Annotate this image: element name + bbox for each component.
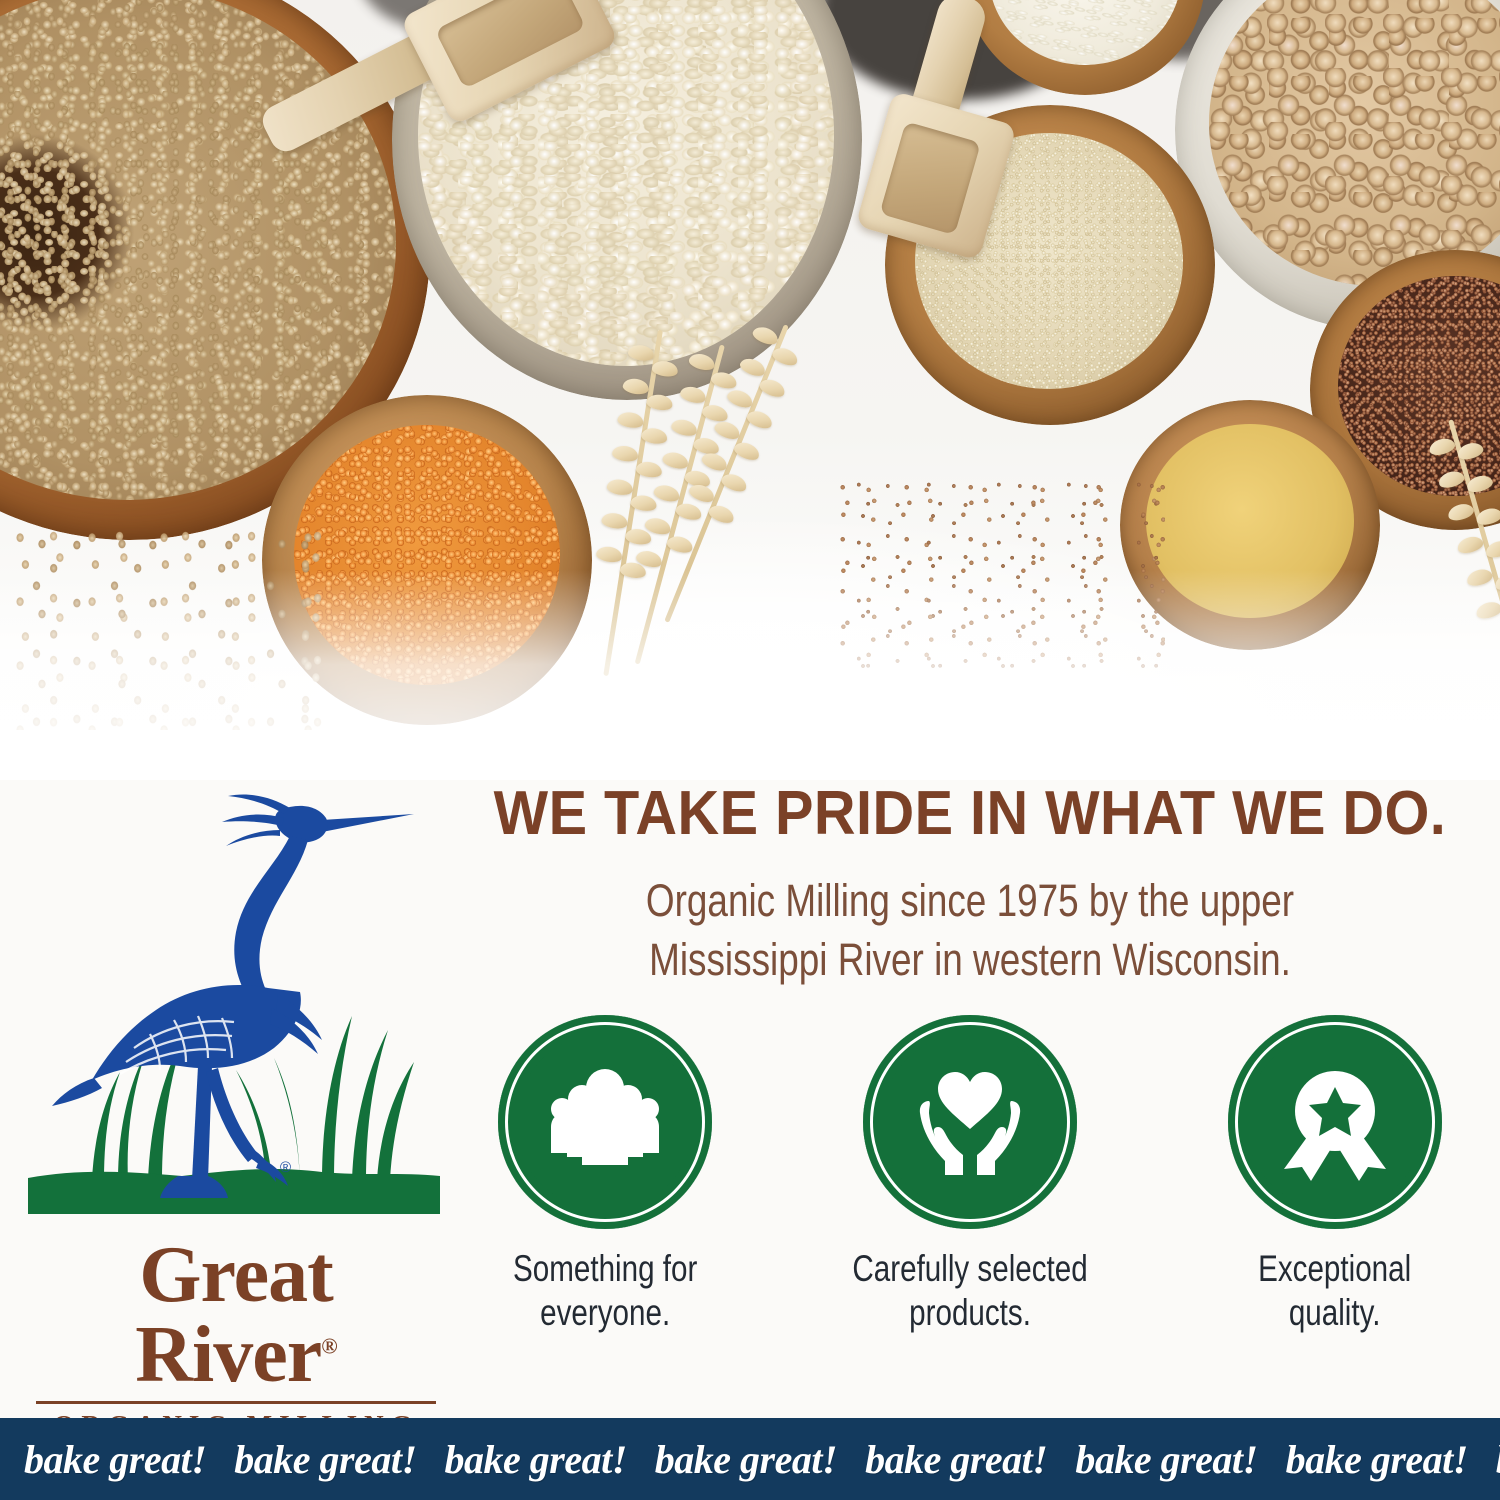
people-group-icon bbox=[540, 1057, 670, 1187]
content-area: ® Great River® ORGANIC MILLING WE TAKE P… bbox=[0, 700, 1500, 1420]
banner-phrase: bake great! bbox=[1286, 1436, 1468, 1483]
award-ribbon-star-icon bbox=[1270, 1057, 1400, 1187]
bake-great-banner: bake great! bake great! bake great! bake… bbox=[0, 1418, 1500, 1500]
svg-text:®: ® bbox=[280, 1159, 291, 1176]
wheat-stalk-icon bbox=[1421, 412, 1500, 717]
headline-block: WE TAKE PRIDE IN WHAT WE DO. Organic Mil… bbox=[455, 778, 1485, 990]
marketing-image: ® Great River® ORGANIC MILLING WE TAKE P… bbox=[0, 0, 1500, 1500]
heart-in-hands-icon bbox=[905, 1057, 1035, 1187]
wordmark-rule-top bbox=[36, 1401, 436, 1404]
registered-mark: ® bbox=[321, 1333, 336, 1358]
brand-name: Great River® bbox=[36, 1235, 436, 1395]
badge-label: Carefully selected products. bbox=[852, 1247, 1087, 1334]
banner-phrase: bake great! bbox=[24, 1436, 206, 1483]
grain-photo bbox=[0, 0, 1500, 780]
scattered-quinoa-seeds bbox=[835, 480, 1165, 670]
value-badges: Something for everyone. Carefully select… bbox=[455, 1015, 1485, 1334]
brand-wordmark: Great River® ORGANIC MILLING bbox=[36, 1235, 436, 1365]
page-title: WE TAKE PRIDE IN WHAT WE DO. bbox=[491, 778, 1449, 849]
subtitle-line-1: Organic Milling since 1975 by the upper bbox=[548, 871, 1393, 930]
badge-circle bbox=[863, 1015, 1077, 1229]
heron-logo-mark: ® bbox=[22, 780, 452, 1240]
badge-exceptional-quality: Exceptional quality. bbox=[1185, 1015, 1485, 1334]
badge-circle bbox=[498, 1015, 712, 1229]
badge-something-for-everyone: Something for everyone. bbox=[455, 1015, 755, 1334]
banner-phrase: bake great! bbox=[445, 1436, 627, 1483]
banner-track: bake great! bake great! bake great! bake… bbox=[0, 1436, 1500, 1483]
badge-label: Exceptional quality. bbox=[1258, 1247, 1411, 1334]
subtitle-line-2: Mississippi River in western Wisconsin. bbox=[548, 930, 1393, 989]
page-subtitle: Organic Milling since 1975 by the upper … bbox=[548, 871, 1393, 990]
badge-circle bbox=[1228, 1015, 1442, 1229]
badge-carefully-selected-products: Carefully selected products. bbox=[820, 1015, 1120, 1334]
heron-icon: ® bbox=[22, 780, 452, 1240]
banner-phrase: bake great! bbox=[655, 1436, 837, 1483]
brand-logo: ® Great River® ORGANIC MILLING bbox=[22, 780, 452, 1380]
badge-label: Something for everyone. bbox=[513, 1247, 697, 1334]
banner-phrase: bake great! bbox=[865, 1436, 1047, 1483]
banner-phrase: bake great! bbox=[1075, 1436, 1257, 1483]
banner-phrase: bake great! bbox=[1496, 1436, 1500, 1483]
banner-phrase: bake great! bbox=[234, 1436, 416, 1483]
